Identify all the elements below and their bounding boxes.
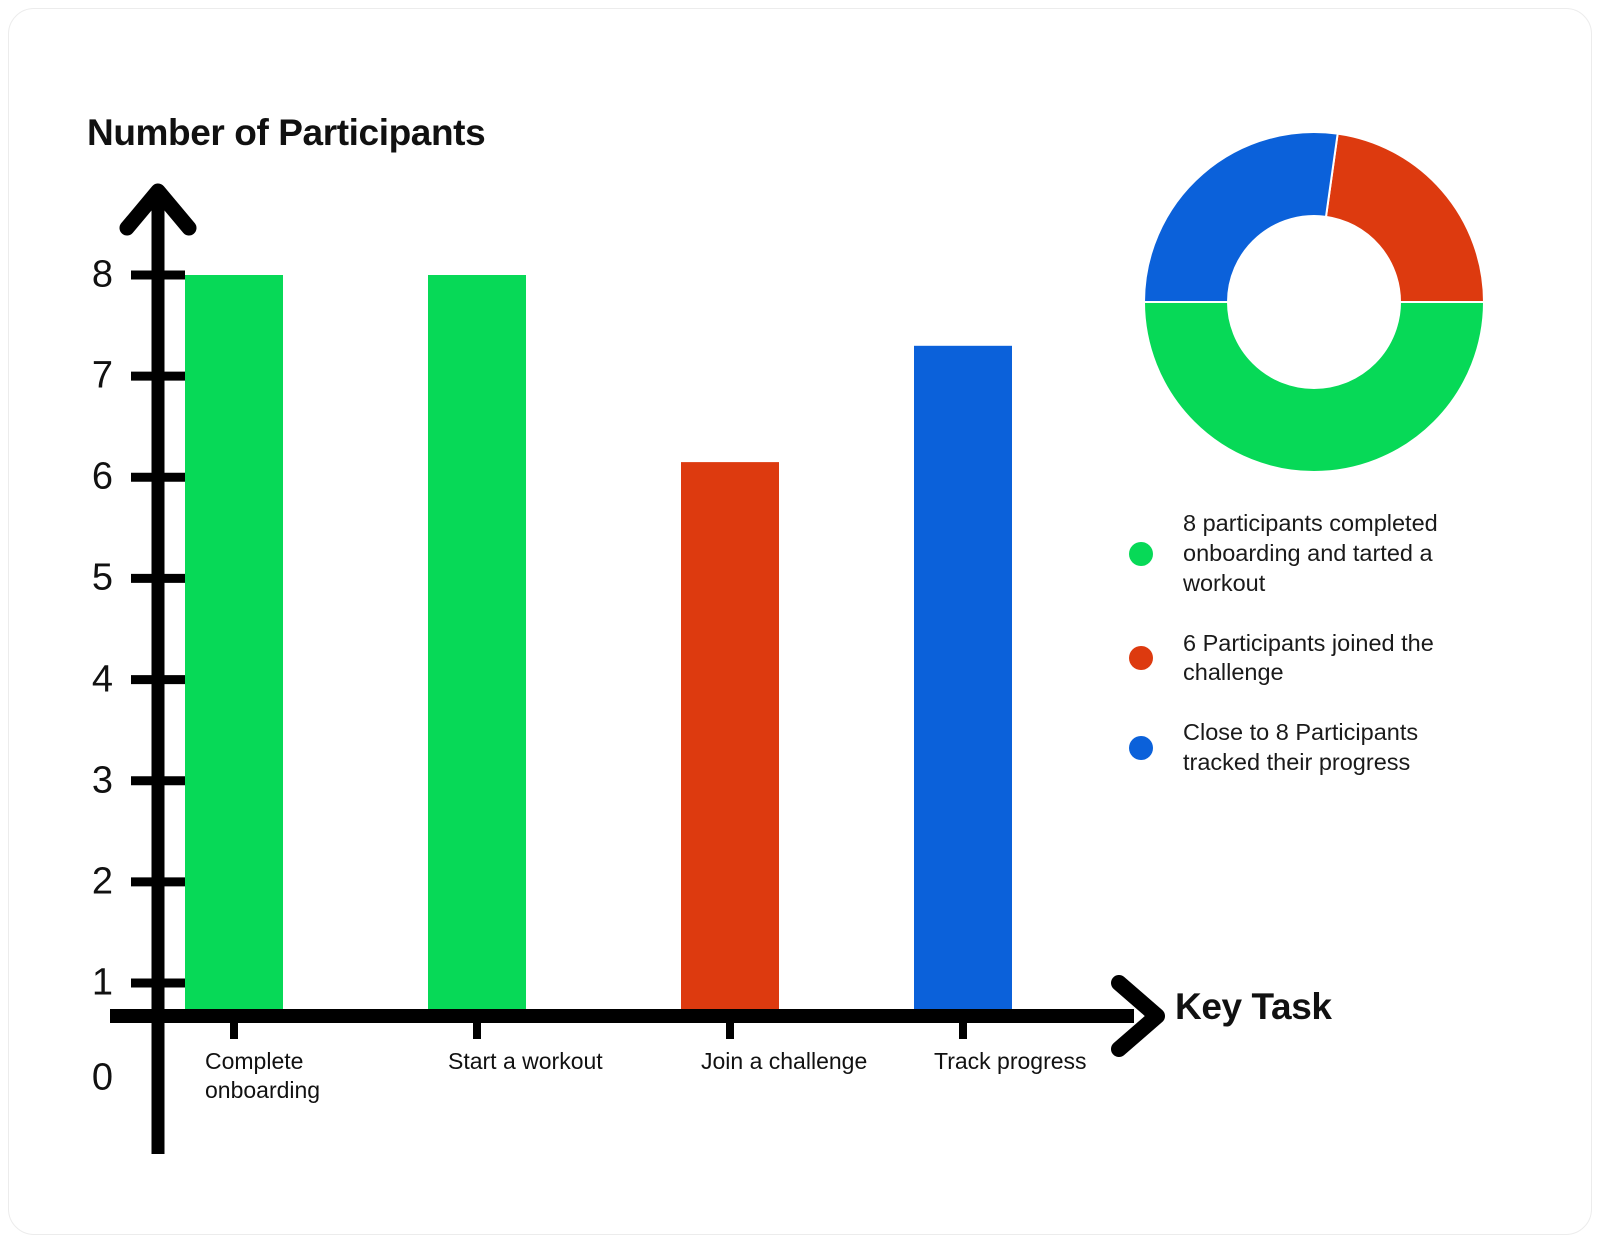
x-category-label-1: Complete onboarding — [205, 1047, 415, 1106]
y-tick-label-5: 5 — [67, 557, 113, 600]
bar-3[interactable] — [681, 462, 779, 1022]
x-category-label-4: Track progress — [934, 1047, 1144, 1076]
y-tick-label-3: 3 — [67, 759, 113, 802]
donut-slice-2[interactable] — [1326, 134, 1484, 302]
chart-card: Number of Participants Key Task 01234567… — [8, 8, 1592, 1235]
bar-1[interactable] — [185, 275, 283, 1022]
legend-color-dot-icon — [1129, 542, 1153, 566]
legend-item-3[interactable]: Close to 8 Participants tracked their pr… — [1129, 718, 1529, 778]
bars-group — [185, 275, 1012, 1022]
legend-color-dot-icon — [1129, 736, 1153, 760]
donut-slice-3[interactable] — [1144, 132, 1338, 302]
legend-item-2[interactable]: 6 Participants joined the challenge — [1129, 629, 1529, 689]
x-category-label-2: Start a workout — [448, 1047, 658, 1076]
y-tick-label-8: 8 — [67, 254, 113, 297]
legend-item-label: 8 participants completed onboarding and … — [1183, 509, 1473, 599]
y-tick-label-7: 7 — [67, 355, 113, 398]
x-category-label-3: Join a challenge — [701, 1047, 911, 1076]
y-tick-label-0: 0 — [67, 1057, 113, 1100]
legend-item-1[interactable]: 8 participants completed onboarding and … — [1129, 509, 1529, 599]
y-tick-label-4: 4 — [67, 658, 113, 701]
y-tick-label-1: 1 — [67, 962, 113, 1005]
y-tick-label-2: 2 — [67, 860, 113, 903]
donut-slice-1[interactable] — [1144, 302, 1484, 472]
x-axis-ticks — [234, 1023, 963, 1039]
legend-item-label: 6 Participants joined the challenge — [1183, 629, 1473, 689]
donut-chart — [1144, 132, 1484, 472]
legend-color-dot-icon — [1129, 646, 1153, 670]
legend-item-label: Close to 8 Participants tracked their pr… — [1183, 718, 1473, 778]
chart-legend: 8 participants completed onboarding and … — [1129, 509, 1529, 808]
bar-2[interactable] — [428, 275, 526, 1022]
y-tick-label-6: 6 — [67, 456, 113, 499]
bar-4[interactable] — [914, 346, 1012, 1022]
